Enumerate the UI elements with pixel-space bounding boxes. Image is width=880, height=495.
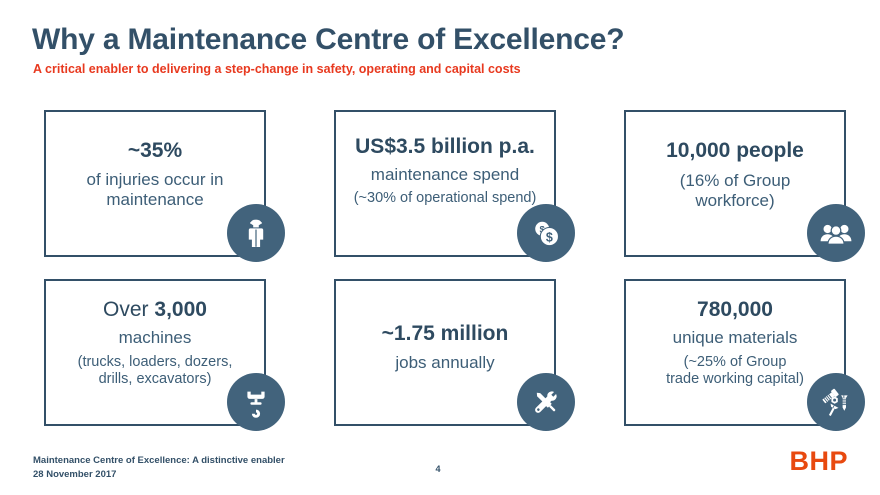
people-group-icon (807, 204, 865, 262)
worker-icon (227, 204, 285, 262)
stat-detail-line: workforce) (626, 191, 844, 211)
stat-detail-line: (~25% of Group (626, 354, 844, 371)
footer-line-1: Maintenance Centre of Excellence: A dist… (33, 454, 285, 468)
stat-headline-value: 3,000 (154, 298, 207, 321)
page-number: 4 (428, 464, 448, 474)
stat-headline: 780,000 (626, 298, 844, 323)
bhp-logo: BHP (789, 448, 848, 475)
stat-detail-line: (16% of Group (626, 171, 844, 191)
footer-note: Maintenance Centre of Excellence: A dist… (33, 454, 285, 482)
money-coins-icon: $ $ (517, 204, 575, 262)
page-subtitle: A critical enabler to delivering a step-… (33, 62, 521, 76)
tools-icon (517, 373, 575, 431)
stat-detail-line: maintenance (46, 190, 264, 210)
stat-headline: ~1.75 million (336, 322, 554, 347)
stat-detail-line: (~30% of operational spend) (336, 190, 554, 207)
footer-line-2: 28 November 2017 (33, 468, 285, 482)
stat-detail-line: (trucks, loaders, dozers, (46, 354, 264, 371)
stat-detail-line: maintenance spend (336, 165, 554, 185)
fasteners-icon (807, 373, 865, 431)
page-title: Why a Maintenance Centre of Excellence? (32, 23, 624, 57)
stat-detail-line: jobs annually (336, 353, 554, 373)
svg-text:$: $ (546, 230, 553, 244)
stat-headline: ~35% (46, 139, 264, 164)
stat-headline: 10,000 people (626, 139, 844, 164)
stat-headline: Over 3,000 (46, 298, 264, 323)
stat-detail-line: machines (46, 328, 264, 348)
stat-detail-line: of injuries occur in (46, 170, 264, 190)
stat-headline: US$3.5 billion p.a. (336, 135, 554, 160)
crane-hook-icon (227, 373, 285, 431)
stat-detail-line: unique materials (626, 328, 844, 348)
slide-canvas: Why a Maintenance Centre of Excellence? … (0, 0, 880, 495)
stat-headline-prefix: Over (103, 298, 154, 321)
